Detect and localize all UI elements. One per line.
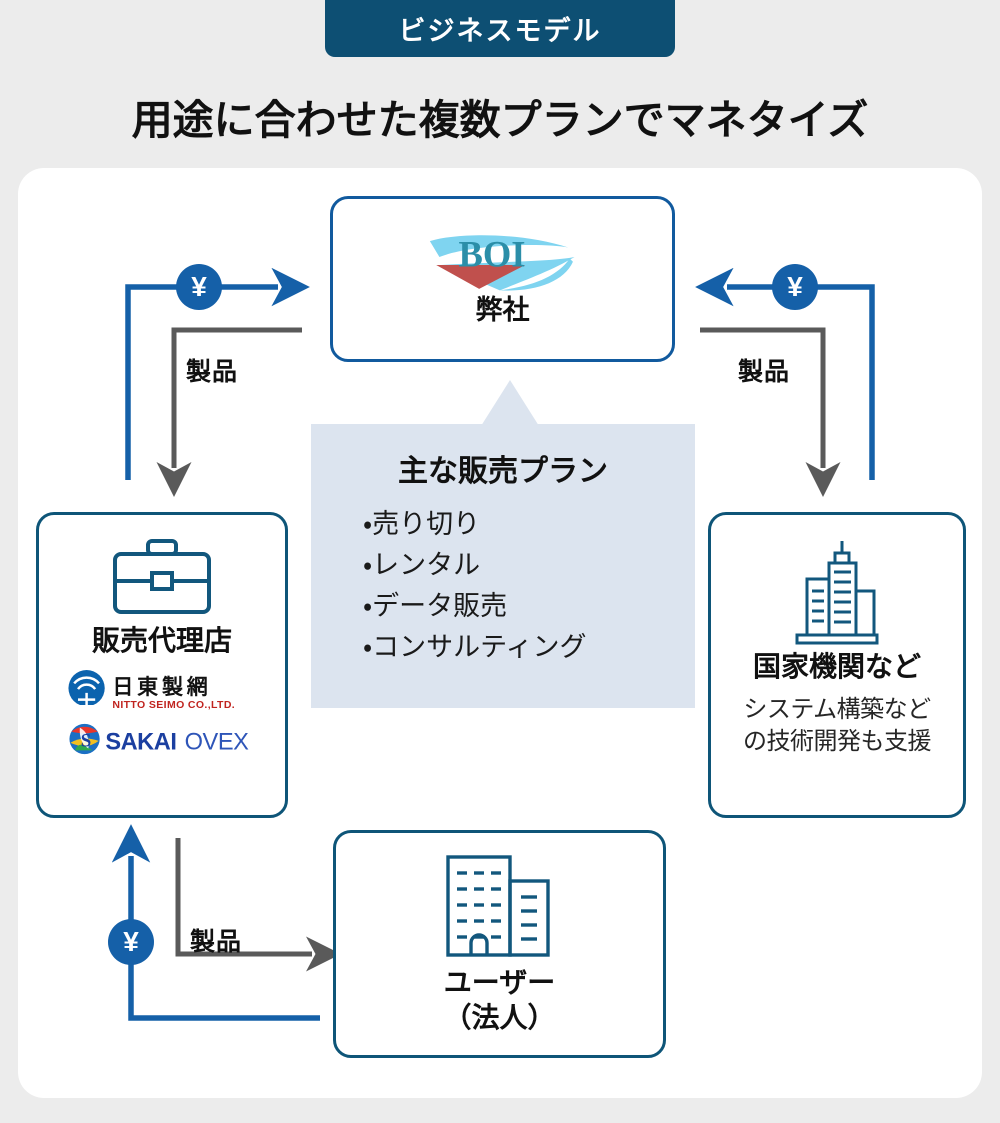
yen-badge-left: ¥ xyxy=(176,264,222,310)
node-user-label-line2: （法人） xyxy=(443,1000,555,1035)
plan-item: ・レンタル xyxy=(363,545,695,586)
node-agency-label: 販売代理店 xyxy=(92,623,232,658)
svg-text:NITTO SEIMO CO.,LTD.: NITTO SEIMO CO.,LTD. xyxy=(112,699,235,711)
node-agency: 販売代理店 日東製網 NITTO SEIMO CO.,LTD. S SAKAI … xyxy=(36,512,288,818)
svg-text:SAKAI: SAKAI xyxy=(105,729,176,755)
plan-panel-notch xyxy=(481,380,539,426)
flow-label-bottom-product: 製品 xyxy=(190,922,242,958)
node-user-label: ユーザー （法人） xyxy=(443,965,555,1035)
plan-item: ・データ販売 xyxy=(363,586,695,627)
skyscraper-icon xyxy=(785,539,889,647)
flow-label-left-product: 製品 xyxy=(186,352,238,388)
sakai-ovex-logo: S SAKAI OVEX xyxy=(64,722,260,756)
plan-item: ・売り切り xyxy=(363,504,695,545)
node-government-note-line2: の技術開発も支援 xyxy=(743,726,931,758)
section-badge: ビジネスモデル xyxy=(325,0,675,57)
svg-text:BOI: BOI xyxy=(458,234,525,275)
yen-badge-right: ¥ xyxy=(772,264,818,310)
boi-logo-icon: BOI xyxy=(423,230,583,292)
plan-list: ・売り切り ・レンタル ・データ販売 ・コンサルティング xyxy=(311,504,695,668)
page-title: 用途に合わせた複数プランでマネタイズ xyxy=(0,86,1000,146)
partner-logo-list: 日東製網 NITTO SEIMO CO.,LTD. S SAKAI OVEX xyxy=(64,670,260,756)
node-government-note: システム構築など の技術開発も支援 xyxy=(743,694,931,757)
node-company-label: 弊社 xyxy=(476,294,530,328)
svg-text:S: S xyxy=(81,731,92,752)
node-government-note-line1: システム構築など xyxy=(743,694,931,726)
node-company: BOI 弊社 xyxy=(330,196,675,362)
plan-item: ・コンサルティング xyxy=(363,627,695,668)
svg-text:OVEX: OVEX xyxy=(185,729,249,755)
node-government: 国家機関など システム構築など の技術開発も支援 xyxy=(708,512,966,818)
plan-panel: 主な販売プラン ・売り切り ・レンタル ・データ販売 ・コンサルティング xyxy=(311,424,695,708)
yen-badge-bottom: ¥ xyxy=(108,919,154,965)
nitto-seimo-logo: 日東製網 NITTO SEIMO CO.,LTD. xyxy=(64,670,260,712)
node-government-label: 国家機関など xyxy=(753,649,921,684)
buildings-icon xyxy=(442,851,558,961)
briefcase-icon xyxy=(110,537,214,617)
node-user-label-line1: ユーザー xyxy=(443,965,555,1000)
node-user: ユーザー （法人） xyxy=(333,830,666,1058)
svg-text:日東製網: 日東製網 xyxy=(112,675,211,699)
plan-panel-title: 主な販売プラン xyxy=(311,446,695,490)
flow-label-right-product: 製品 xyxy=(738,352,790,388)
